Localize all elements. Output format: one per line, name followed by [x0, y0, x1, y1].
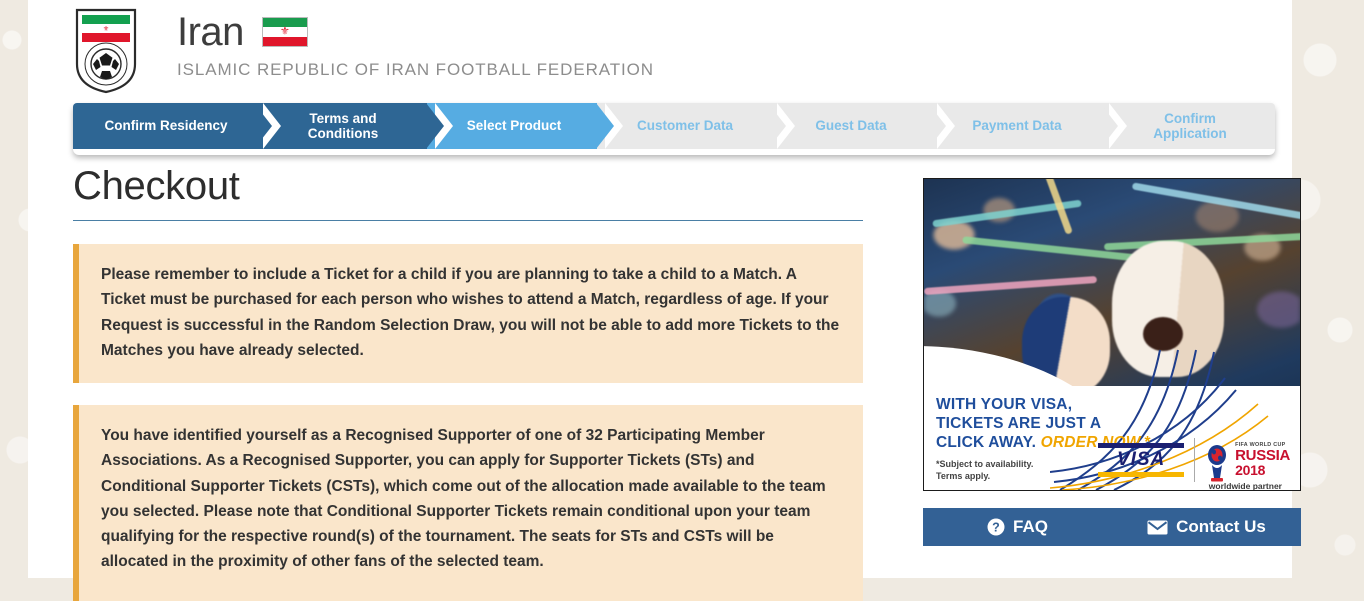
step-label: Guest Data [815, 118, 886, 133]
svg-text:?: ? [992, 521, 1000, 535]
svg-text:⚜: ⚜ [103, 25, 109, 33]
logo-divider [1194, 438, 1195, 482]
content-column: Checkout Please remember to include a Ti… [73, 165, 863, 601]
step-label: Confirm Application [1153, 111, 1227, 141]
notice-recognised-supporter: You have identified yourself as a Recogn… [73, 405, 863, 601]
contact-us-button[interactable]: Contact Us [1112, 508, 1301, 546]
ad-logo-row: VISA FIFA WORLD CUP RUSSIA [1098, 438, 1290, 482]
notice-text: You have identified yourself as a Recogn… [101, 427, 826, 570]
step-label: Select Product [467, 118, 562, 133]
help-bar: ? FAQ Contact Us [923, 508, 1301, 546]
step-label: Terms and Conditions [308, 111, 379, 141]
faq-label: FAQ [1013, 517, 1048, 537]
question-circle-icon: ? [987, 518, 1005, 536]
step-confirm-application[interactable]: Confirm Application [1101, 103, 1275, 149]
visa-logo: VISA [1098, 443, 1184, 477]
visa-advertisement-banner[interactable]: WITH YOUR VISA, TICKETS ARE JUST A CLICK… [923, 178, 1301, 491]
fifa-logo-line-2: RUSSIA [1235, 448, 1290, 463]
checkout-progress-container: Confirm Residency Terms and Conditions S… [73, 103, 1275, 155]
page-container: ⚜ Iran ⚜ ISLAMIC REPUBLIC OF IRAN FOOTBA… [28, 0, 1292, 578]
contact-us-label: Contact Us [1176, 517, 1266, 537]
step-label: Payment Data [972, 118, 1061, 133]
notice-text: Please remember to include a Ticket for … [101, 266, 839, 359]
ad-partner-label: worldwide partner [1209, 481, 1282, 491]
world-cup-trophy-icon [1205, 444, 1229, 484]
federation-crest-icon: ⚜ [73, 6, 139, 94]
step-label: Customer Data [637, 118, 733, 133]
fifa-world-cup-russia-2018-logo: FIFA WORLD CUP RUSSIA 2018 [1205, 443, 1290, 477]
faq-button[interactable]: ? FAQ [923, 508, 1112, 546]
ad-line-3a: CLICK AWAY. [936, 434, 1041, 451]
page-brand-title: Iran [177, 12, 244, 52]
notice-child-ticket: Please remember to include a Ticket for … [73, 244, 863, 383]
step-label: Confirm Residency [104, 118, 227, 133]
envelope-icon [1147, 520, 1168, 535]
title-divider [73, 220, 863, 221]
iran-flag-icon: ⚜ [262, 17, 308, 47]
checkout-stepper: Confirm Residency Terms and Conditions S… [73, 103, 1275, 149]
federation-subtitle: ISLAMIC REPUBLIC OF IRAN FOOTBALL FEDERA… [177, 60, 654, 80]
ad-line-2: TICKETS ARE JUST A [936, 415, 1150, 434]
ad-line-1: WITH YOUR VISA, [936, 396, 1150, 415]
visa-wordmark: VISA [1098, 450, 1184, 469]
step-confirm-residency[interactable]: Confirm Residency [73, 103, 255, 149]
fifa-logo-line-3: 2018 [1235, 463, 1290, 477]
site-branding: ⚜ Iran ⚜ ISLAMIC REPUBLIC OF IRAN FOOTBA… [73, 6, 654, 94]
page-title: Checkout [73, 165, 863, 212]
sidebar-column: WITH YOUR VISA, TICKETS ARE JUST A CLICK… [923, 178, 1303, 546]
